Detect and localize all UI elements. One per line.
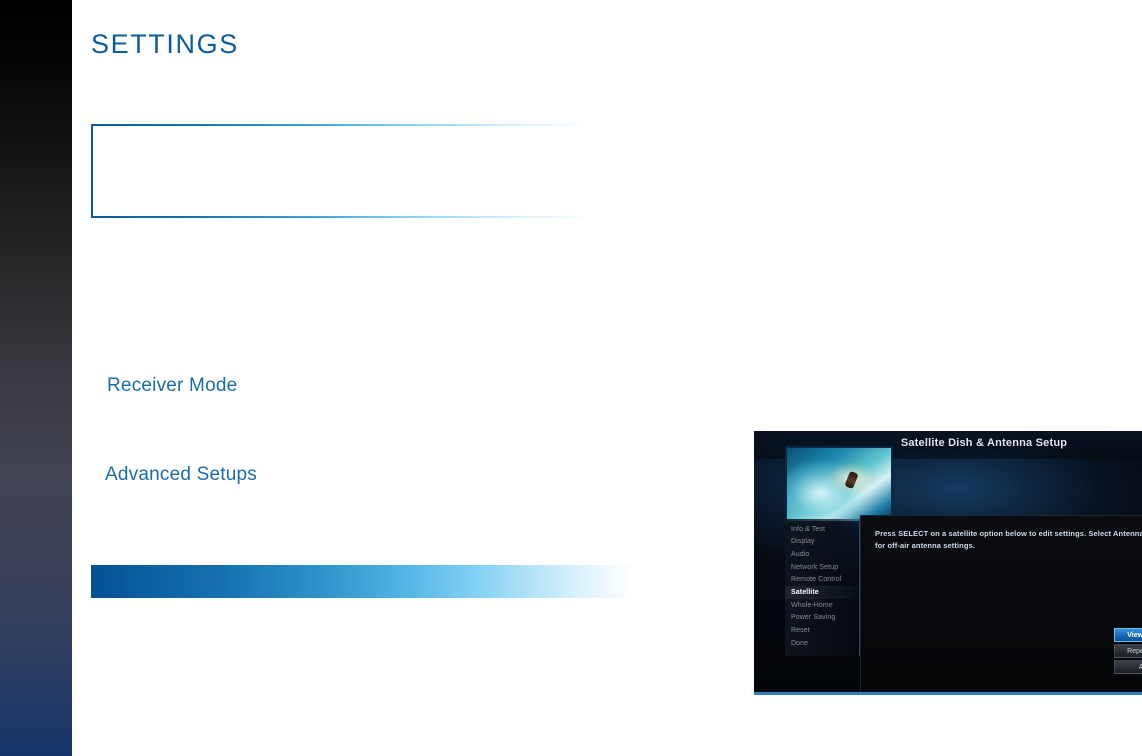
content-box xyxy=(91,124,591,218)
tv-video-preview xyxy=(785,446,893,523)
tv-menu-item[interactable]: Remote Control xyxy=(785,574,859,587)
tv-menu-item[interactable]: Audio xyxy=(785,548,859,561)
tv-screenshot-image: Satellite Dish & Antenna Setup 6:10p Thu… xyxy=(754,431,1142,695)
content-box-top-edge xyxy=(91,124,591,126)
tv-menu-item[interactable]: Whole-Home xyxy=(785,599,859,612)
tv-menu-item[interactable]: Display xyxy=(785,536,859,549)
page-title: SETTINGS xyxy=(91,29,239,60)
menu-item-advanced-setups[interactable]: Advanced Setups xyxy=(105,464,257,486)
tv-settings-menu[interactable]: Info & TestDisplayAudioNetwork SetupRemo… xyxy=(785,519,860,656)
tv-action-button[interactable]: Repeat Satellite Setup xyxy=(1114,644,1142,658)
tv-menu-item[interactable]: Satellite xyxy=(785,586,859,599)
tv-instruction-text: Press SELECT on a satellite option below… xyxy=(875,528,1142,551)
accent-gradient-bar xyxy=(91,565,636,598)
slide-canvas: SETTINGS Receiver Mode Advanced Setups S… xyxy=(72,0,1142,756)
tv-menu-item[interactable]: Power Saving xyxy=(785,612,859,625)
tv-menu-item[interactable]: Network Setup xyxy=(785,561,859,574)
menu-item-receiver-mode[interactable]: Receiver Mode xyxy=(107,375,237,397)
tv-action-button[interactable]: Antenna Setup xyxy=(1114,660,1142,674)
tv-menu-item[interactable]: Info & Test xyxy=(785,523,859,536)
left-gradient-rail xyxy=(0,0,72,756)
tv-action-button[interactable]: View Signal Strength xyxy=(1114,628,1142,642)
content-box-left-edge xyxy=(91,124,93,218)
tv-menu-item[interactable]: Reset xyxy=(785,625,859,638)
tv-main-panel: Press SELECT on a satellite option below… xyxy=(860,515,1142,692)
content-box-bottom-edge xyxy=(91,216,591,218)
surfer-figure-icon xyxy=(845,471,859,489)
tv-action-button-group[interactable]: View Signal StrengthRepeat Satellite Set… xyxy=(1114,628,1142,676)
tv-menu-item[interactable]: Done xyxy=(785,637,859,650)
